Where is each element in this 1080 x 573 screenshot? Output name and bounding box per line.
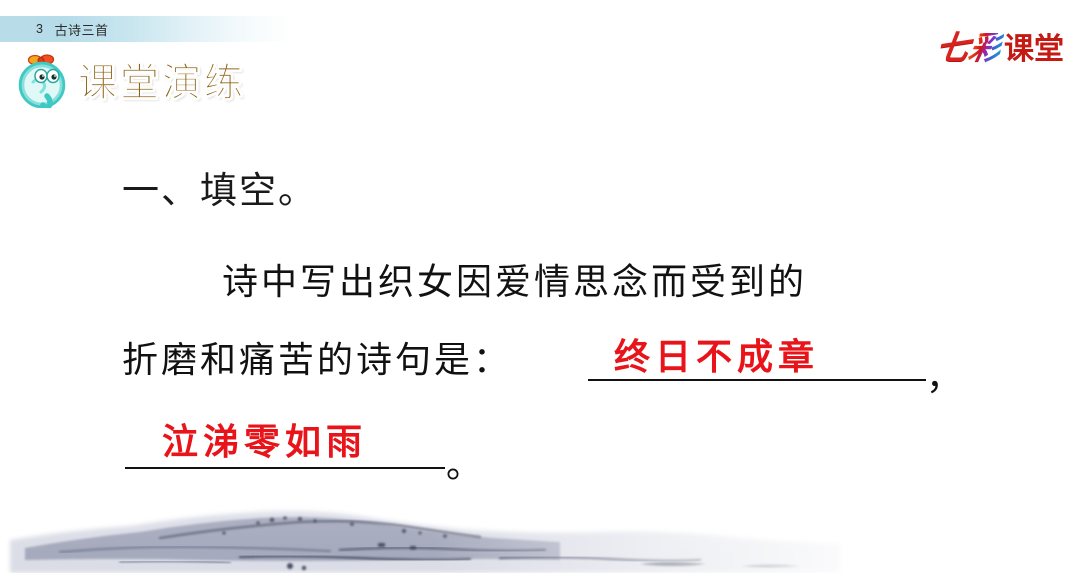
question-line-2: 折磨和痛苦的诗句是： (122, 331, 512, 383)
answer-blank-1[interactable] (588, 379, 926, 381)
section-title: 课堂演练 (78, 52, 246, 108)
breadcrumb: 3 古诗三首 (36, 18, 108, 40)
answer-blank-2[interactable] (125, 467, 445, 469)
brand-char-qi: 七 (934, 33, 971, 66)
q-mascot-icon (16, 52, 70, 108)
answer-text-1: 终日不成章 (614, 328, 819, 380)
brand-char-cai: 彩 (965, 33, 1004, 66)
question-label: 一、填空。 (122, 160, 317, 214)
brand-logo: 七 彩 课堂 (936, 26, 1064, 66)
lesson-title: 古诗三首 (54, 20, 108, 39)
question-line-1: 诗中写出织女因爱情思念而受到的 (222, 253, 807, 305)
punctuation-comma: ， (926, 348, 962, 400)
section-header: 课堂演练 (16, 52, 246, 108)
answer-text-2: 泣涕零如雨 (162, 413, 367, 465)
ink-wash-landscape-icon (0, 488, 1080, 573)
brand-text-ketang: 课堂 (1004, 35, 1064, 65)
punctuation-period: 。 (446, 436, 482, 488)
lesson-number: 3 (36, 22, 43, 36)
